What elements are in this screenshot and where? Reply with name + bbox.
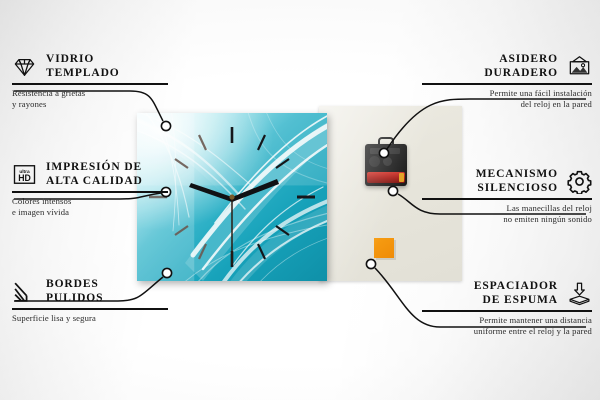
svg-text:HD: HD: [18, 172, 31, 182]
feature-mecanismo-silencioso: MECANISMO SILENCIOSO Las manecillas del …: [422, 167, 592, 226]
picture-hanger-icon: [567, 54, 592, 79]
feature-description: Permite mantener una distancia uniforme …: [422, 312, 592, 338]
foam-spacer-pad: [374, 238, 394, 258]
feature-title: MECANISMO SILENCIOSO: [476, 167, 558, 195]
polished-edges-icon: [12, 279, 37, 304]
feature-description: Colores intensos e imagen vívida: [12, 193, 168, 219]
feature-title: VIDRIO TEMPLADO: [46, 52, 120, 80]
feature-title: BORDES PULIDOS: [46, 277, 103, 305]
feature-header: VIDRIO TEMPLADO: [12, 52, 168, 83]
quartz-clock-mechanism: [365, 144, 407, 186]
gear-icon: [567, 169, 592, 194]
feature-description: Superficie lisa y segura: [12, 310, 168, 325]
feature-vidrio-templado: VIDRIO TEMPLADO Resistencia a grietas y …: [12, 52, 168, 111]
feature-espaciador-de-espuma: ESPACIADOR DE ESPUMA Permite mantener un…: [422, 279, 592, 338]
ultra-hd-icon: ultra HD: [12, 162, 37, 187]
foam-spacer-icon: [567, 281, 592, 306]
feature-header: MECANISMO SILENCIOSO: [422, 167, 592, 198]
mechanism-secondary-dial: [383, 157, 392, 166]
mechanism-top-slot: [370, 148, 400, 154]
infographic-canvas: VIDRIO TEMPLADO Resistencia a grietas y …: [0, 0, 600, 400]
feature-title: IMPRESIÓN DE ALTA CALIDAD: [46, 160, 143, 188]
feature-description: Las manecillas del reloj no emiten ningú…: [422, 200, 592, 226]
minute-hand: [232, 179, 279, 202]
aa-battery: [367, 172, 405, 183]
diamond-icon: [12, 54, 37, 79]
feature-title: ASIDERO DURADERO: [484, 52, 558, 80]
feature-description: Permite una fácil instalación del reloj …: [422, 85, 592, 111]
feature-header: BORDES PULIDOS: [12, 277, 168, 308]
feature-asidero-duradero: ASIDERO DURADERO Permite una fácil insta…: [422, 52, 592, 111]
feature-header: ultra HD IMPRESIÓN DE ALTA CALIDAD: [12, 160, 168, 191]
feature-impresion-alta-calidad: ultra HD IMPRESIÓN DE ALTA CALIDAD Color…: [12, 160, 168, 219]
feature-bordes-pulidos: BORDES PULIDOS Superficie lisa y segura: [12, 277, 168, 324]
hour-hand: [189, 183, 232, 202]
mechanism-hanger-lug: [378, 137, 394, 146]
feature-header: ESPACIADOR DE ESPUMA: [422, 279, 592, 310]
feature-description: Resistencia a grietas y rayones: [12, 85, 168, 111]
product-photo: [137, 105, 462, 285]
mechanism-dial: [369, 156, 380, 167]
feature-header: ASIDERO DURADERO: [422, 52, 592, 83]
feature-title: ESPACIADOR DE ESPUMA: [474, 279, 558, 307]
